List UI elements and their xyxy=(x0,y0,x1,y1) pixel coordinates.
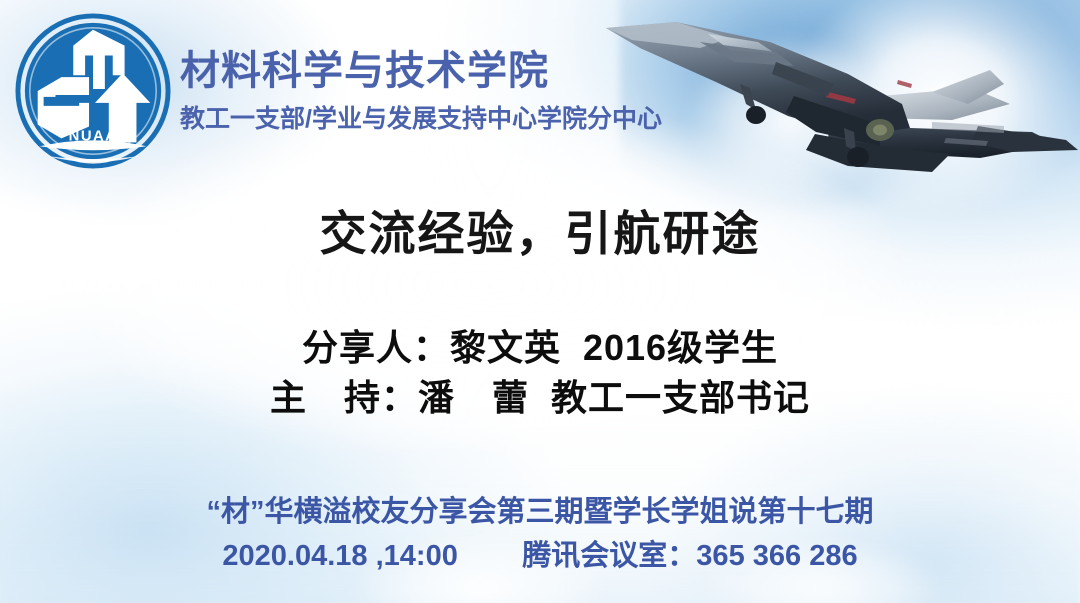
event-datetime-meeting-line: 2020.04.18 ,14:00 腾讯会议室：365 366 286 xyxy=(0,538,1080,576)
speaker-line-host: 主 持：潘 蕾 教工一支部书记 xyxy=(0,373,1080,423)
organization-subtitle: 教工一支部/学业与发展支持中心学院分中心 xyxy=(180,104,840,134)
speaker-line-presenter: 分享人：黎文英 2016级学生 xyxy=(0,323,1080,373)
footer-block: “材”华横溢校友分享会第三期暨学长学姐说第十七期 2020.04.18 ,14:… xyxy=(0,494,1080,575)
nuaa-mst-logo-icon: NUAA xyxy=(14,12,172,170)
header-text-block: 材料科学与技术学院 教工一支部/学业与发展支持中心学院分中心 xyxy=(180,48,840,134)
speaker-info-block: 分享人：黎文英 2016级学生 主 持：潘 蕾 教工一支部书记 xyxy=(0,323,1080,422)
poster-root: NUAA 材料科学与技术学院 教工一支部/学业与发展支持中心学院分中心 交流经验… xyxy=(0,0,1080,603)
page-title: 交流经验，引航研途 xyxy=(0,206,1080,262)
event-series-line: “材”华横溢校友分享会第三期暨学长学姐说第十七期 xyxy=(0,494,1080,532)
organization-name: 材料科学与技术学院 xyxy=(180,48,840,94)
